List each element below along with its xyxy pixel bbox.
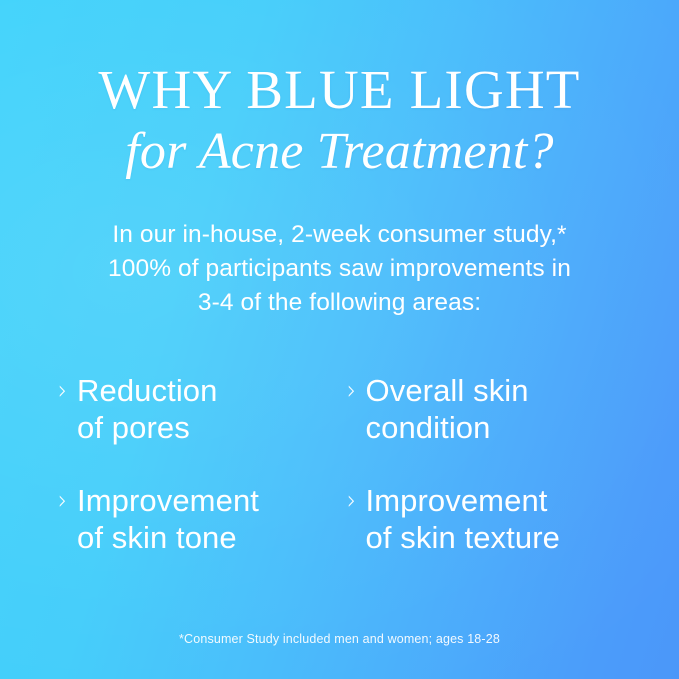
list-item-label-line-1: Improvement — [77, 482, 259, 519]
chevron-right-icon: › — [58, 483, 70, 518]
list-item-label: Overall skin condition — [361, 372, 529, 446]
list-item: › Improvement of skin texture — [347, 482, 628, 556]
intro-line-1: In our in-house, 2-week consumer study,* — [60, 218, 620, 252]
chevron-right-icon: › — [58, 373, 70, 408]
list-item-label: Reduction of pores — [72, 372, 218, 446]
list-item-label-line-2: condition — [366, 409, 529, 446]
intro-paragraph: In our in-house, 2-week consumer study,*… — [60, 218, 620, 320]
list-item-label-line-2: of skin tone — [77, 519, 259, 556]
chevron-right-icon: › — [347, 373, 359, 408]
footnote-disclaimer: *Consumer Study included men and women; … — [0, 632, 679, 646]
list-item: › Overall skin condition — [347, 372, 628, 446]
list-item-label-line-1: Improvement — [366, 482, 560, 519]
list-item-label-line-2: of skin texture — [366, 519, 560, 556]
poster-canvas: WHY BLUE LIGHT for Acne Treatment? In ou… — [0, 0, 679, 679]
chevron-right-icon: › — [347, 483, 359, 518]
page-title-line-1: WHY BLUE LIGHT — [0, 62, 679, 117]
list-item: › Improvement of skin tone — [58, 482, 339, 556]
page-title: WHY BLUE LIGHT for Acne Treatment? — [0, 62, 679, 178]
list-item-label-line-1: Reduction — [77, 372, 218, 409]
page-title-line-2: for Acne Treatment? — [0, 126, 679, 178]
list-item-label-line-1: Overall skin — [366, 372, 529, 409]
list-item-label: Improvement of skin tone — [72, 482, 259, 556]
poster-content: WHY BLUE LIGHT for Acne Treatment? In ou… — [0, 0, 679, 679]
list-item: › Reduction of pores — [58, 372, 339, 446]
list-item-label: Improvement of skin texture — [361, 482, 560, 556]
benefit-list: › Reduction of pores › Overall skin cond… — [0, 372, 679, 556]
intro-line-2: 100% of participants saw improvements in — [60, 252, 620, 286]
list-item-label-line-2: of pores — [77, 409, 218, 446]
intro-line-3: 3-4 of the following areas: — [60, 286, 620, 320]
